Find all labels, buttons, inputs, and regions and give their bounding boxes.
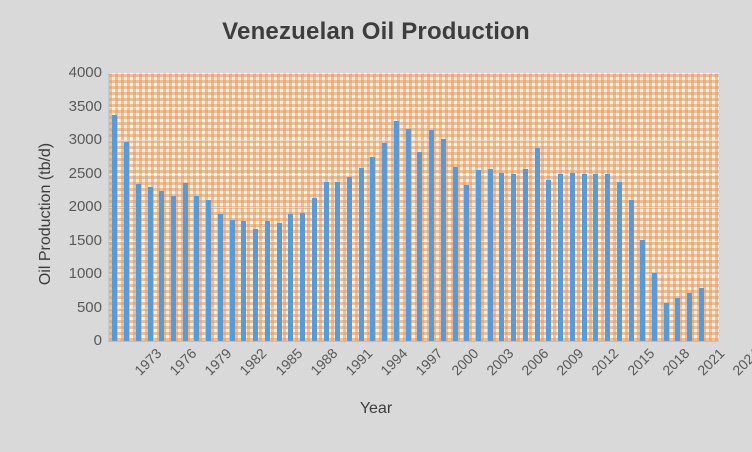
x-tick-label: 2018 — [659, 345, 692, 378]
gridline — [109, 207, 719, 208]
x-axis-line — [108, 341, 719, 342]
x-tick-label: 2024 — [729, 345, 752, 378]
bar — [194, 196, 199, 341]
bar — [441, 139, 446, 341]
bar — [241, 221, 246, 341]
bar — [675, 298, 680, 341]
bar — [499, 173, 504, 341]
bar — [417, 152, 422, 341]
bar — [124, 142, 129, 341]
bar — [546, 180, 551, 341]
bar — [382, 143, 387, 341]
y-tick-label: 2000 — [40, 200, 102, 214]
bar — [370, 157, 375, 341]
bar — [429, 130, 434, 341]
gridline — [109, 107, 719, 108]
bar — [347, 177, 352, 341]
gridline — [109, 73, 719, 74]
bar — [476, 170, 481, 341]
bar — [300, 213, 305, 341]
x-tick-label: 2006 — [518, 345, 551, 378]
bar — [511, 174, 516, 341]
x-tick-label: 1988 — [307, 345, 340, 378]
gridline — [109, 241, 719, 242]
bar — [265, 221, 270, 341]
x-tick-label: 1982 — [237, 345, 270, 378]
bar — [687, 293, 692, 341]
chart-title: Venezuelan Oil Production — [0, 18, 752, 46]
bar — [159, 191, 164, 341]
x-tick-label: 2009 — [553, 345, 586, 378]
bar — [558, 174, 563, 342]
bar — [488, 169, 493, 341]
x-tick-label: 1997 — [413, 345, 446, 378]
x-axis-tick-labels: 1973197619791982198519881991199419972000… — [108, 345, 728, 395]
x-tick-label: 2000 — [448, 345, 481, 378]
y-tick-label: 3500 — [40, 100, 102, 114]
gridline — [109, 308, 719, 309]
x-tick-label: 1979 — [201, 345, 234, 378]
bar — [394, 121, 399, 341]
bar — [171, 196, 176, 341]
x-tick-label: 2021 — [694, 345, 727, 378]
x-tick-label: 1973 — [131, 345, 164, 378]
plot-area — [108, 73, 719, 341]
y-tick-label: 4000 — [40, 66, 102, 80]
bar — [629, 200, 634, 341]
bar — [312, 198, 317, 341]
bar — [652, 273, 657, 341]
gridline — [109, 174, 719, 175]
bar — [183, 183, 188, 341]
bar — [335, 182, 340, 341]
bar — [230, 220, 235, 341]
y-tick-label: 3000 — [40, 133, 102, 147]
bar — [218, 214, 223, 341]
bar — [535, 148, 540, 341]
chart-container: Venezuelan Oil Production Oil Production… — [0, 0, 752, 452]
bar — [582, 174, 587, 342]
bar — [148, 187, 153, 341]
bar — [570, 173, 575, 341]
y-axis-tick-labels: 40003500300025002000150010005000 — [34, 73, 102, 341]
x-tick-label: 1994 — [377, 345, 410, 378]
x-tick-label: 2012 — [588, 345, 621, 378]
bar — [453, 167, 458, 341]
bar — [406, 129, 411, 341]
bar — [324, 182, 329, 341]
y-tick-label: 1000 — [40, 267, 102, 281]
y-tick-label: 1500 — [40, 234, 102, 248]
bar — [253, 229, 258, 341]
y-tick-label: 2500 — [40, 167, 102, 181]
bar — [288, 214, 293, 342]
x-tick-label: 1991 — [342, 345, 375, 378]
bar — [112, 115, 117, 341]
bar — [617, 182, 622, 341]
bar — [699, 288, 704, 341]
bar — [593, 174, 598, 342]
x-tick-label: 2003 — [483, 345, 516, 378]
x-tick-label: 2015 — [624, 345, 657, 378]
bar — [523, 169, 528, 341]
bar — [206, 200, 211, 341]
x-tick-label: 1976 — [166, 345, 199, 378]
bar — [136, 184, 141, 341]
gridline — [109, 274, 719, 275]
y-tick-label: 0 — [40, 334, 102, 348]
bar — [464, 185, 469, 341]
y-tick-label: 500 — [40, 301, 102, 315]
gridline — [109, 140, 719, 141]
bar — [640, 240, 645, 341]
bar — [277, 223, 282, 341]
x-tick-label: 1985 — [272, 345, 305, 378]
x-axis-title: Year — [0, 400, 752, 418]
bar — [664, 303, 669, 341]
bar — [605, 174, 610, 342]
bar — [359, 168, 364, 341]
